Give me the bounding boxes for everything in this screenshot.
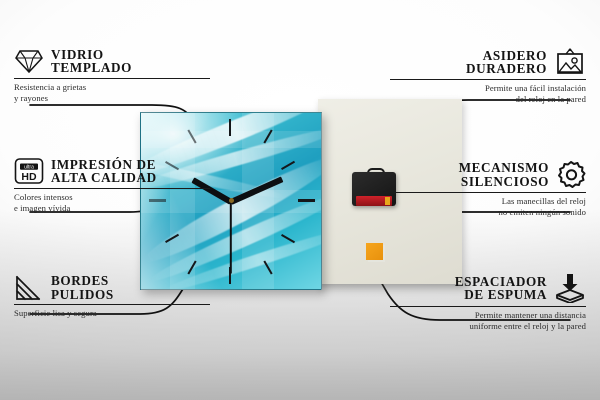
feature-vidrio-templado: VIDRIO TEMPLADO Resistencia a grietas y … xyxy=(14,48,210,105)
feature-divider xyxy=(14,78,210,79)
clock-second-hand xyxy=(230,201,232,273)
clock-center-hub xyxy=(229,198,234,203)
feature-title-line1: ASIDERO xyxy=(483,49,547,62)
feature-description: Permite mantener una distancia uniforme … xyxy=(390,310,586,333)
gear-icon xyxy=(556,160,586,189)
foam-spacer xyxy=(366,243,383,260)
diagonal-lines-icon xyxy=(14,274,44,301)
feature-divider xyxy=(390,192,586,193)
feature-title-line2: PULIDOS xyxy=(51,288,114,301)
battery xyxy=(356,196,392,206)
clock-tick xyxy=(229,119,231,136)
svg-text:ultra: ultra xyxy=(24,165,34,171)
clock-tick xyxy=(281,234,295,243)
svg-text:HD: HD xyxy=(21,171,37,183)
feature-mecanismo-silencioso: MECANISMO SILENCIOSO Las manecillas del … xyxy=(390,160,586,219)
feature-title-line2: DE ESPUMA xyxy=(464,288,547,301)
feature-title-line1: BORDES xyxy=(51,274,109,287)
feature-title-line2: SILENCIOSO xyxy=(461,175,549,188)
feature-divider xyxy=(390,79,586,80)
feature-title-line2: ALTA CALIDAD xyxy=(51,171,157,184)
feature-title-line1: ESPACIADOR xyxy=(455,275,547,288)
feature-divider xyxy=(14,304,210,305)
feature-title-line2: TEMPLADO xyxy=(51,61,132,74)
feature-divider xyxy=(14,188,210,189)
feature-title-line1: IMPRESIÓN DE xyxy=(51,158,156,171)
feature-divider xyxy=(390,306,586,307)
press-pad-icon xyxy=(554,273,586,303)
clock-tick xyxy=(298,199,315,202)
feature-description: Colores intensos e imagen vívida xyxy=(14,192,210,215)
feature-bordes-pulidos: BORDES PULIDOS Superficie lisa y segura xyxy=(14,274,210,319)
feature-espaciador-de-espuma: ESPACIADOR DE ESPUMA Permite mantener un… xyxy=(390,273,586,333)
feature-description: Superficie lisa y segura xyxy=(14,308,210,319)
ultra-hd-icon: ultra HD xyxy=(14,157,44,185)
feature-description: Permite una fácil instalación del reloj … xyxy=(390,83,586,106)
hanging-frame-icon xyxy=(554,48,586,76)
feature-description: Las manecillas del reloj no emiten ningú… xyxy=(390,196,586,219)
feature-asidero-duradero: ASIDERO DURADERO Permite una fácil insta… xyxy=(390,48,586,106)
infographic-canvas: VIDRIO TEMPLADO Resistencia a grietas y … xyxy=(0,0,600,400)
feature-impresion-alta-calidad: ultra HD IMPRESIÓN DE ALTA CALIDAD Color… xyxy=(14,157,210,215)
feature-title-line1: MECANISMO xyxy=(459,161,549,174)
feature-title-line1: VIDRIO xyxy=(51,48,104,61)
diamond-icon xyxy=(14,48,44,74)
feature-title-line2: DURADERO xyxy=(466,62,547,75)
feature-description: Resistencia a grietas y rayones xyxy=(14,82,210,105)
